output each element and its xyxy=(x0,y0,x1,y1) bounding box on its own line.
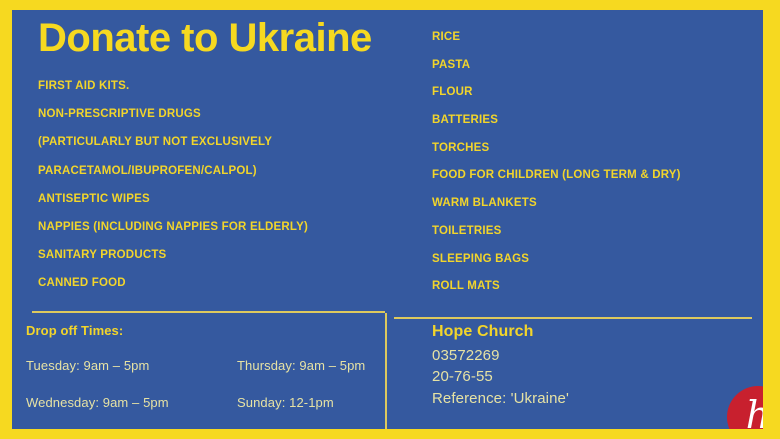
list-item: (particularly but not exclusively xyxy=(38,128,308,156)
list-item: Sleeping bags xyxy=(432,246,681,274)
page-title: Donate to Ukraine xyxy=(38,18,372,58)
list-item: First aid kits. xyxy=(38,72,308,100)
list-item: Warm blankets xyxy=(432,190,681,218)
logo-letter-h-icon: h xyxy=(727,384,763,429)
list-item: Antiseptic wipes xyxy=(38,185,308,213)
times-cell-thursday: Thursday: 9am – 5pm xyxy=(237,358,377,373)
times-row: Wednesday: 9am – 5pm Sunday: 12-1pm xyxy=(26,395,381,410)
drop-off-times-block: Drop off Times: Tuesday: 9am – 5pm Thurs… xyxy=(26,323,381,429)
times-row: Tuesday: 9am – 5pm Thursday: 9am – 5pm xyxy=(26,358,381,373)
donation-items-left-column: First aid kits. Non-prescriptive drugs (… xyxy=(38,72,308,298)
sort-code: 20-76-55 xyxy=(432,366,732,387)
list-item: Canned food xyxy=(38,269,308,297)
times-cell-tuesday: Tuesday: 9am – 5pm xyxy=(26,358,237,373)
list-item: Torches xyxy=(432,135,681,163)
list-item: Paracetamol/Ibuprofen/Calpol) xyxy=(38,157,308,185)
times-cell-wednesday: Wednesday: 9am – 5pm xyxy=(26,395,237,410)
list-item: Flour xyxy=(432,79,681,107)
list-item: Roll mats xyxy=(432,273,681,301)
drop-off-times-heading: Drop off Times: xyxy=(26,323,381,338)
list-item: Food for children (long term & dry) xyxy=(432,162,681,190)
church-name: Hope Church xyxy=(432,323,732,341)
donation-items-right-column: Rice Pasta Flour Batteries Torches Food … xyxy=(432,24,681,301)
divider-horizontal-right xyxy=(394,317,752,319)
poster-panel: Donate to Ukraine First aid kits. Non-pr… xyxy=(12,10,763,429)
account-number: 03572269 xyxy=(432,345,732,366)
hope-church-logo: h xyxy=(727,386,763,429)
list-item: Toiletries xyxy=(432,218,681,246)
list-item: Batteries xyxy=(432,107,681,135)
divider-vertical xyxy=(385,313,387,429)
divider-horizontal-left xyxy=(32,311,385,313)
list-item: Pasta xyxy=(432,52,681,80)
times-cell-sunday: Sunday: 12-1pm xyxy=(237,395,377,410)
donation-poster: Donate to Ukraine First aid kits. Non-pr… xyxy=(0,0,780,439)
drop-off-times-grid: Tuesday: 9am – 5pm Thursday: 9am – 5pm W… xyxy=(26,358,381,410)
list-item: Sanitary products xyxy=(38,241,308,269)
contact-block: Hope Church 03572269 20-76-55 Reference:… xyxy=(432,323,732,409)
list-item: Nappies (including nappies for elderly) xyxy=(38,213,308,241)
list-item: Rice xyxy=(432,24,681,52)
list-item: Non-prescriptive drugs xyxy=(38,100,308,128)
payment-reference: Reference: 'Ukraine' xyxy=(432,388,732,409)
